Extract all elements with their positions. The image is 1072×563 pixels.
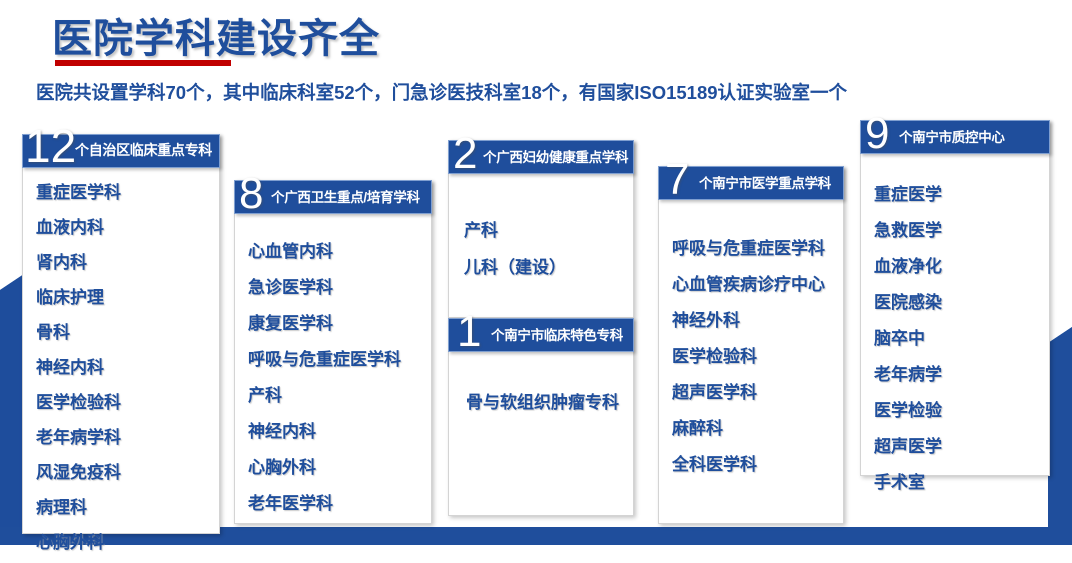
- card-number-3: 2: [453, 132, 477, 176]
- card-number-1: 12: [25, 123, 76, 169]
- card-label-1: 个自治区临床重点专科: [75, 140, 212, 160]
- card-number-6: 9: [865, 112, 889, 156]
- card-number-2: 8: [239, 172, 263, 216]
- list-item: 医院感染: [874, 288, 1072, 313]
- card-number-5: 7: [665, 158, 689, 202]
- page-title: 医院学科建设齐全: [52, 6, 380, 64]
- title-underline: [55, 60, 231, 66]
- list-item: 手术室: [874, 468, 1072, 493]
- list-item: 脑卒中: [874, 324, 1072, 349]
- card-items-6: 重症医学 急救医学 血液净化 医院感染 脑卒中 老年病学 医学检验 超声医学 手…: [874, 180, 1072, 504]
- list-item: 心胸外科: [36, 528, 1072, 553]
- card-header-2[interactable]: 8 个广西卫生重点/培育学科: [234, 180, 432, 214]
- list-item: 急救医学: [874, 216, 1072, 241]
- slide-root: 医院学科建设齐全 医院共设置学科70个，其中临床科室52个，门急诊医技科室18个…: [0, 0, 1072, 563]
- list-item: 重症医学: [874, 180, 1072, 205]
- card-header-6[interactable]: 9 个南宁市质控中心: [860, 120, 1050, 154]
- card-label-4: 个南宁市临床特色专科: [491, 324, 623, 344]
- list-item: 超声医学: [874, 432, 1072, 457]
- page-subtitle: 医院共设置学科70个，其中临床科室52个，门急诊医技科室18个，有国家ISO15…: [36, 79, 847, 105]
- card-header-3[interactable]: 2 个广西妇幼健康重点学科: [448, 140, 634, 174]
- card-label-5: 个南宁市医学重点学科: [699, 172, 831, 192]
- list-item: 医学检验: [874, 396, 1072, 421]
- card-label-6: 个南宁市质控中心: [899, 126, 1005, 146]
- card-header-4[interactable]: 1 个南宁市临床特色专科: [448, 318, 634, 352]
- card-header-1[interactable]: 12 个自治区临床重点专科: [22, 134, 220, 168]
- card-header-5[interactable]: 7 个南宁市医学重点学科: [658, 166, 844, 200]
- card-label-3: 个广西妇幼健康重点学科: [483, 146, 628, 166]
- list-item: 老年病学: [874, 360, 1072, 385]
- card-label-2: 个广西卫生重点/培育学科: [271, 186, 420, 206]
- card-number-4: 1: [457, 310, 481, 354]
- list-item: 血液净化: [874, 252, 1072, 277]
